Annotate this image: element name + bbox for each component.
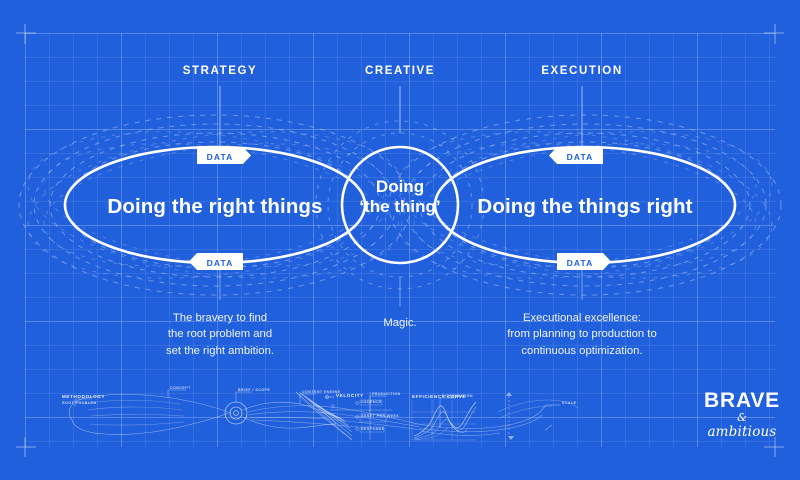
core-label-line2: ‘the thing’ [341,197,459,217]
sketch-methodology [69,390,578,440]
column-heading-strategy: STRATEGY [170,65,270,77]
sketch-methodology-callout-1: CONCEPT [170,386,191,390]
caption-strategy-line1: The bravery to find [140,310,300,326]
caption-strategy-line3: set the right ambition. [140,343,300,359]
column-heading-creative: CREATIVE [350,65,450,77]
sketch-velocity-callout-1: ASSET PER WEEK [361,414,399,418]
sketch-velocity-callout-0: CADENCE [361,400,382,404]
sketch-callout-text: BRIEF / SCOPE [238,388,270,392]
sketch-methodology-callout-3: CONTENT ENGINE [302,390,340,394]
sketch-efficiency-title: EFFICIENCY CURVE [412,394,466,399]
logo-ampersand: & [700,411,784,425]
caption-execution-line1: Executional excellence: [472,310,692,326]
caption-execution-line2: from planning to production to [472,326,692,342]
data-badge-label-top-left: DATA [197,152,243,162]
lobe-right-label-text: Doing the things right [477,195,692,218]
badge-label: DATA [207,152,234,162]
data-badge-label-bottom-left: DATA [197,258,243,268]
column-heading-execution: EXECUTION [532,65,632,77]
logo: BRAVE & ambitious [700,390,784,440]
sketch-title-text: VELOCITY [336,393,364,398]
sketch-methodology-callout-6: SCALE [562,401,576,405]
sketch-callout-text: CADENCE [361,400,382,404]
sketch-methodology-title: METHODOLOGY [62,394,105,399]
caption-strategy: The bravery to find the root problem and… [140,310,300,359]
sketch-callout-text: ASSET PER WEEK [361,414,399,418]
column-heading-execution-label: EXECUTION [541,65,623,77]
sketch-title-text: EFFICIENCY CURVE [412,394,466,399]
caption-strategy-line2: the root problem and [140,326,300,342]
blueprint-canvas: STRATEGY CREATIVE EXECUTION Doing the ri… [0,0,800,480]
core-label: Doing ‘the thing’ [341,177,459,217]
caption-execution: Executional excellence: from planning to… [472,310,692,359]
data-badge-label-bottom-right: DATA [557,258,603,268]
sketch-methodology-callout-2: BRIEF / SCOPE [238,388,270,392]
data-badge-label-top-right: DATA [557,152,603,162]
sketch-callout-text: RESPONSE [361,427,385,431]
sketch-callout-text: ROOT PROBLEM [62,401,97,405]
sketch-callout-text: PRODUCTION [372,392,401,396]
sketch-velocity-title: VELOCITY [336,393,364,398]
sketch-velocity-callout-2: RESPONSE [361,427,385,431]
caption-creative: Magic. [340,315,460,331]
column-heading-strategy-label: STRATEGY [183,65,258,77]
lobe-right-label: Doing the things right [465,195,705,219]
caption-execution-line3: continuous optimization. [472,343,692,359]
sketch-methodology-callout-0: ROOT PROBLEM [62,401,97,405]
logo-wordmark: BRAVE [700,390,784,411]
sketch-title-text: METHODOLOGY [62,394,105,399]
sketch-callout-text: CONTENT ENGINE [302,390,340,394]
logo-script: ambitious [700,425,784,440]
sketch-methodology-callout-4: PRODUCTION [372,392,401,396]
badge-label: DATA [567,258,594,268]
lobe-left-label-text: Doing the right things [107,195,322,218]
sketch-callout-text: SCALE [562,401,576,405]
lobe-left-label: Doing the right things [95,195,335,219]
badge-label: DATA [207,258,234,268]
core-label-line1: Doing [341,177,459,197]
sketch-efficiency-curve [412,400,476,440]
badge-label: DATA [567,152,594,162]
sketch-callout-text: CONCEPT [170,386,191,390]
caption-creative-line1: Magic. [340,315,460,331]
column-heading-creative-label: CREATIVE [365,65,435,77]
